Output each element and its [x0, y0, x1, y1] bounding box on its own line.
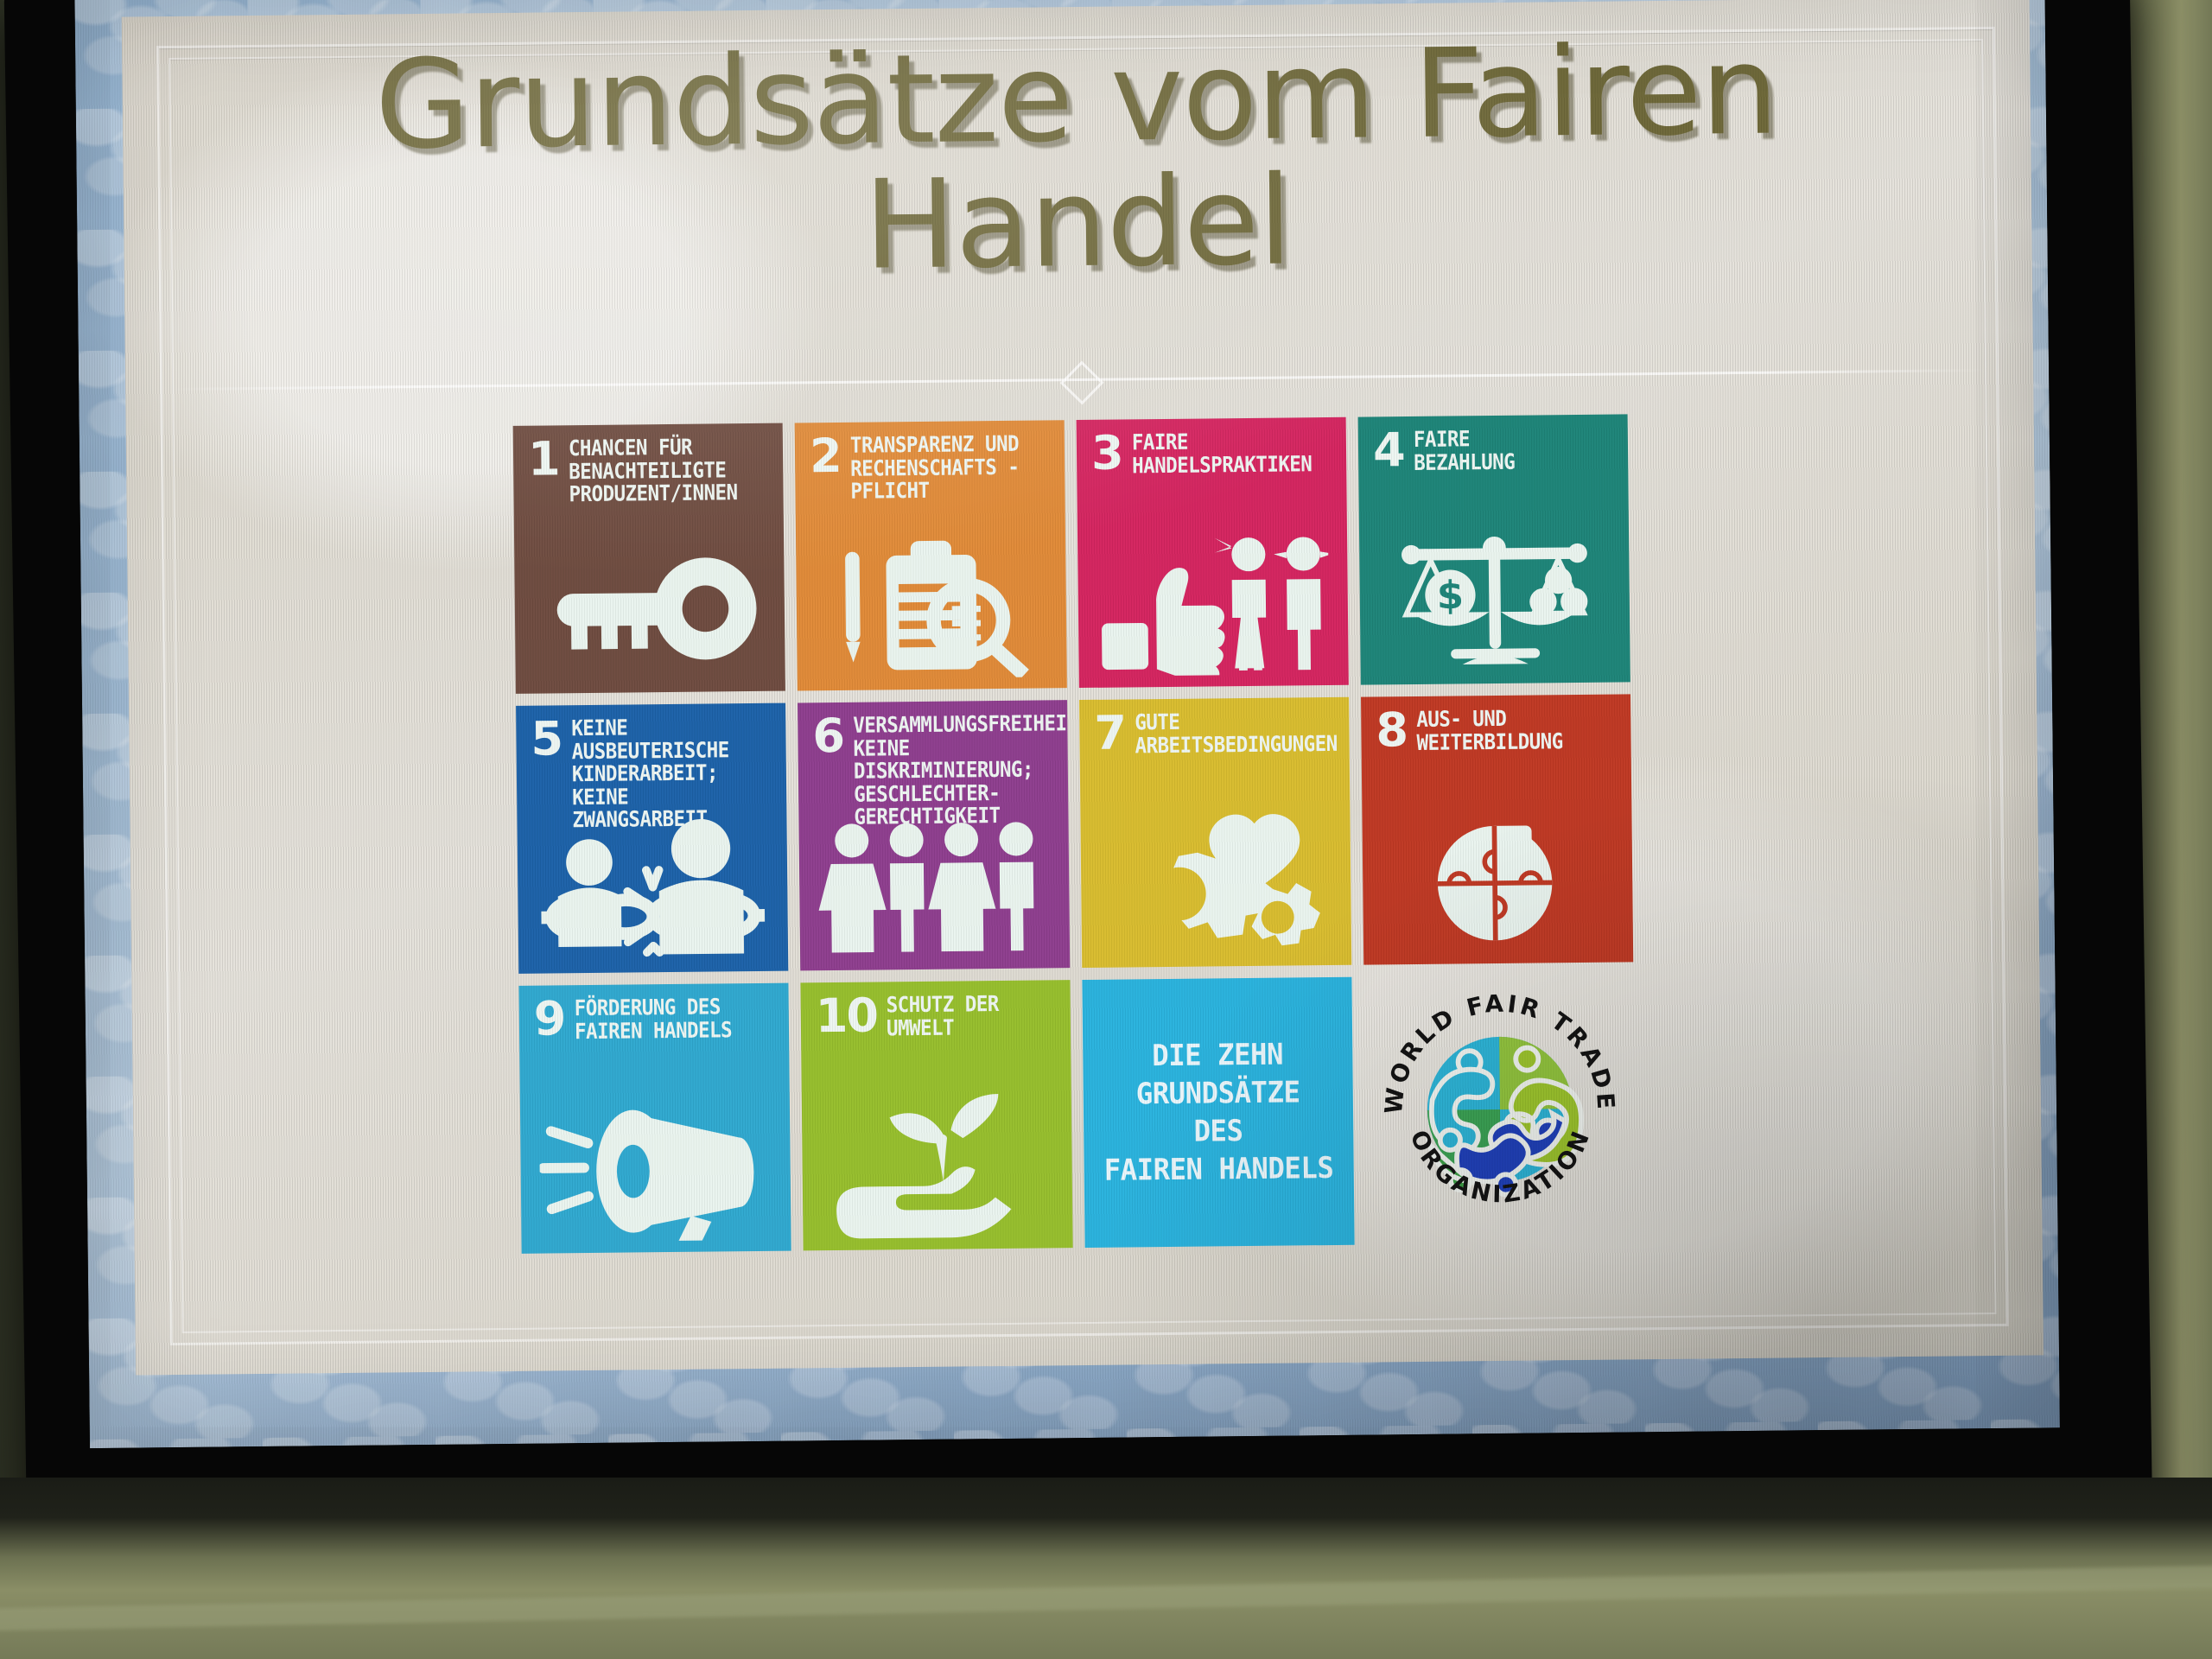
principle-header: 4Faire Bezahlung	[1373, 426, 1620, 474]
monitor-bezel: Grundsätze vom Fairen Handel 1Chancen fü…	[4, 0, 2153, 1557]
title-divider-ornament	[172, 369, 1986, 391]
thumbs-up-people-icon	[1077, 524, 1349, 683]
slide-title: Grundsätze vom Fairen Handel	[122, 26, 2032, 296]
wfto-logo-cell[interactable]: WORLD FAIR TRADE ORGANIZATION	[1363, 974, 1636, 1244]
balance-scale-icon: $	[1359, 521, 1630, 679]
principle-tile-2[interactable]: 2Transparenz und Rechenschafts - pflicht	[795, 420, 1067, 690]
principle-header: 2Transparenz und Rechenschafts - pflicht	[810, 432, 1057, 503]
principle-number: 2	[810, 435, 841, 478]
four-people-icon	[798, 807, 1070, 965]
principle-tile-10[interactable]: 10Schutz der Umwelt	[800, 980, 1072, 1250]
fair-trade-principles-grid: 1Chancen für benachteiligte Produzent/in…	[513, 414, 1637, 1253]
principle-label: Transparenz und Rechenschafts - pflicht	[849, 433, 1019, 504]
principle-number: 6	[812, 715, 843, 758]
puzzle-circle-icon	[1362, 801, 1633, 959]
principle-label: Schutz der Umwelt	[887, 993, 1000, 1039]
principle-number: 7	[1094, 711, 1125, 754]
wfto-logo: WORLD FAIR TRADE ORGANIZATION	[1373, 982, 1626, 1236]
principle-number: 3	[1091, 432, 1122, 475]
principle-header: 9Förderung des fairen Handels	[534, 995, 781, 1044]
principle-number: 1	[528, 437, 559, 480]
principle-label: Faire Handelspraktiken	[1131, 429, 1312, 477]
megaphone-icon	[520, 1090, 791, 1249]
principle-number: 8	[1376, 709, 1407, 752]
slide-border-pattern: Grundsätze vom Fairen Handel 1Chancen fü…	[74, 0, 2060, 1448]
principle-label: Faire Bezahlung	[1413, 428, 1515, 474]
principle-number: 5	[531, 717, 562, 760]
summary-caption-tile[interactable]: Die zehn Grundsätze des fairen Handels	[1082, 977, 1354, 1248]
principle-tile-4[interactable]: 4Faire Bezahlung $	[1358, 414, 1630, 684]
principle-header: 3Faire Handelspraktiken	[1091, 429, 1338, 478]
principle-number: 10	[816, 995, 878, 1038]
principle-tile-6[interactable]: 6Versammlungsfreiheit; keine Diskriminie…	[798, 700, 1070, 970]
room-desk-surface	[0, 1478, 2212, 1659]
clipboard-magnifier-icon	[796, 527, 1067, 685]
summary-caption-text: Die zehn Grundsätze des fairen Handels	[1103, 1035, 1333, 1191]
photo-scene: Grundsätze vom Fairen Handel 1Chancen fü…	[0, 0, 2212, 1659]
principle-tile-3[interactable]: 3Faire Handelspraktiken	[1077, 417, 1349, 688]
gears-heart-icon	[1080, 804, 1351, 963]
hand-sprout-icon	[802, 1087, 1073, 1245]
principle-tile-8[interactable]: 8Aus- und Weiterbildung	[1361, 694, 1633, 964]
principle-header: 8Aus- und Weiterbildung	[1376, 706, 1623, 754]
principle-tile-1[interactable]: 1Chancen für benachteiligte Produzent/in…	[513, 423, 785, 694]
broken-chain-icon	[517, 810, 788, 969]
principle-label: Chancen für benachteiligte Produzent/inn…	[568, 435, 737, 506]
principle-number: 4	[1373, 429, 1404, 472]
monitor-screen: Grundsätze vom Fairen Handel 1Chancen fü…	[74, 0, 2060, 1448]
principle-label: Gute Arbeitsbedingungen	[1135, 709, 1338, 757]
principle-tile-5[interactable]: 5Keine ausbeuterische Kinderarbeit; kein…	[516, 703, 788, 974]
svg-text:$: $	[1436, 572, 1464, 618]
principle-header: 10Schutz der Umwelt	[816, 992, 1063, 1040]
principle-tile-9[interactable]: 9Förderung des fairen Handels	[518, 983, 791, 1254]
principle-label: Förderung des fairen Handels	[574, 995, 732, 1043]
key-icon	[514, 531, 785, 689]
slide-canvas: Grundsätze vom Fairen Handel 1Chancen fü…	[122, 0, 2044, 1376]
principle-header: 7Gute Arbeitsbedingungen	[1094, 709, 1341, 758]
principle-tile-7[interactable]: 7Gute Arbeitsbedingungen	[1079, 697, 1351, 968]
principle-header: 1Chancen für benachteiligte Produzent/in…	[528, 435, 775, 506]
principle-number: 9	[534, 997, 565, 1040]
principle-label: Aus- und Weiterbildung	[1416, 707, 1563, 754]
slide-title-line-1: Grundsätze vom Fairen	[122, 26, 2031, 171]
